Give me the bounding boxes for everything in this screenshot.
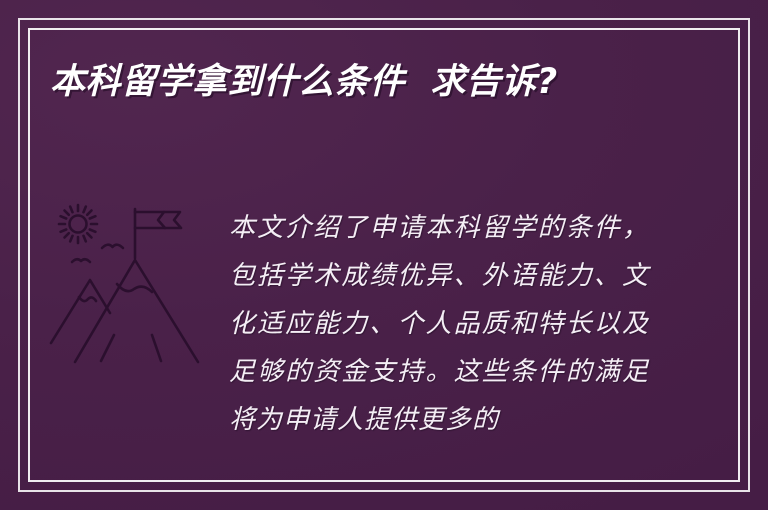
mountains-with-flag-illustration [46,196,222,368]
large-mountain-icon [75,260,198,362]
small-mountain-icon [51,280,110,343]
bird-icon [102,245,123,248]
sun-icon [59,205,97,243]
flag-icon [135,209,181,258]
page-title: 本科留学拿到什么条件 求告诉? [50,62,710,102]
poster-card: 本科留学拿到什么条件 求告诉? [0,0,768,510]
body-paragraph: 本文介绍了申请本科留学的条件，包括学术成绩优异、外语能力、文化适应能力、个人品质… [229,204,649,444]
bird-icon [72,259,90,262]
